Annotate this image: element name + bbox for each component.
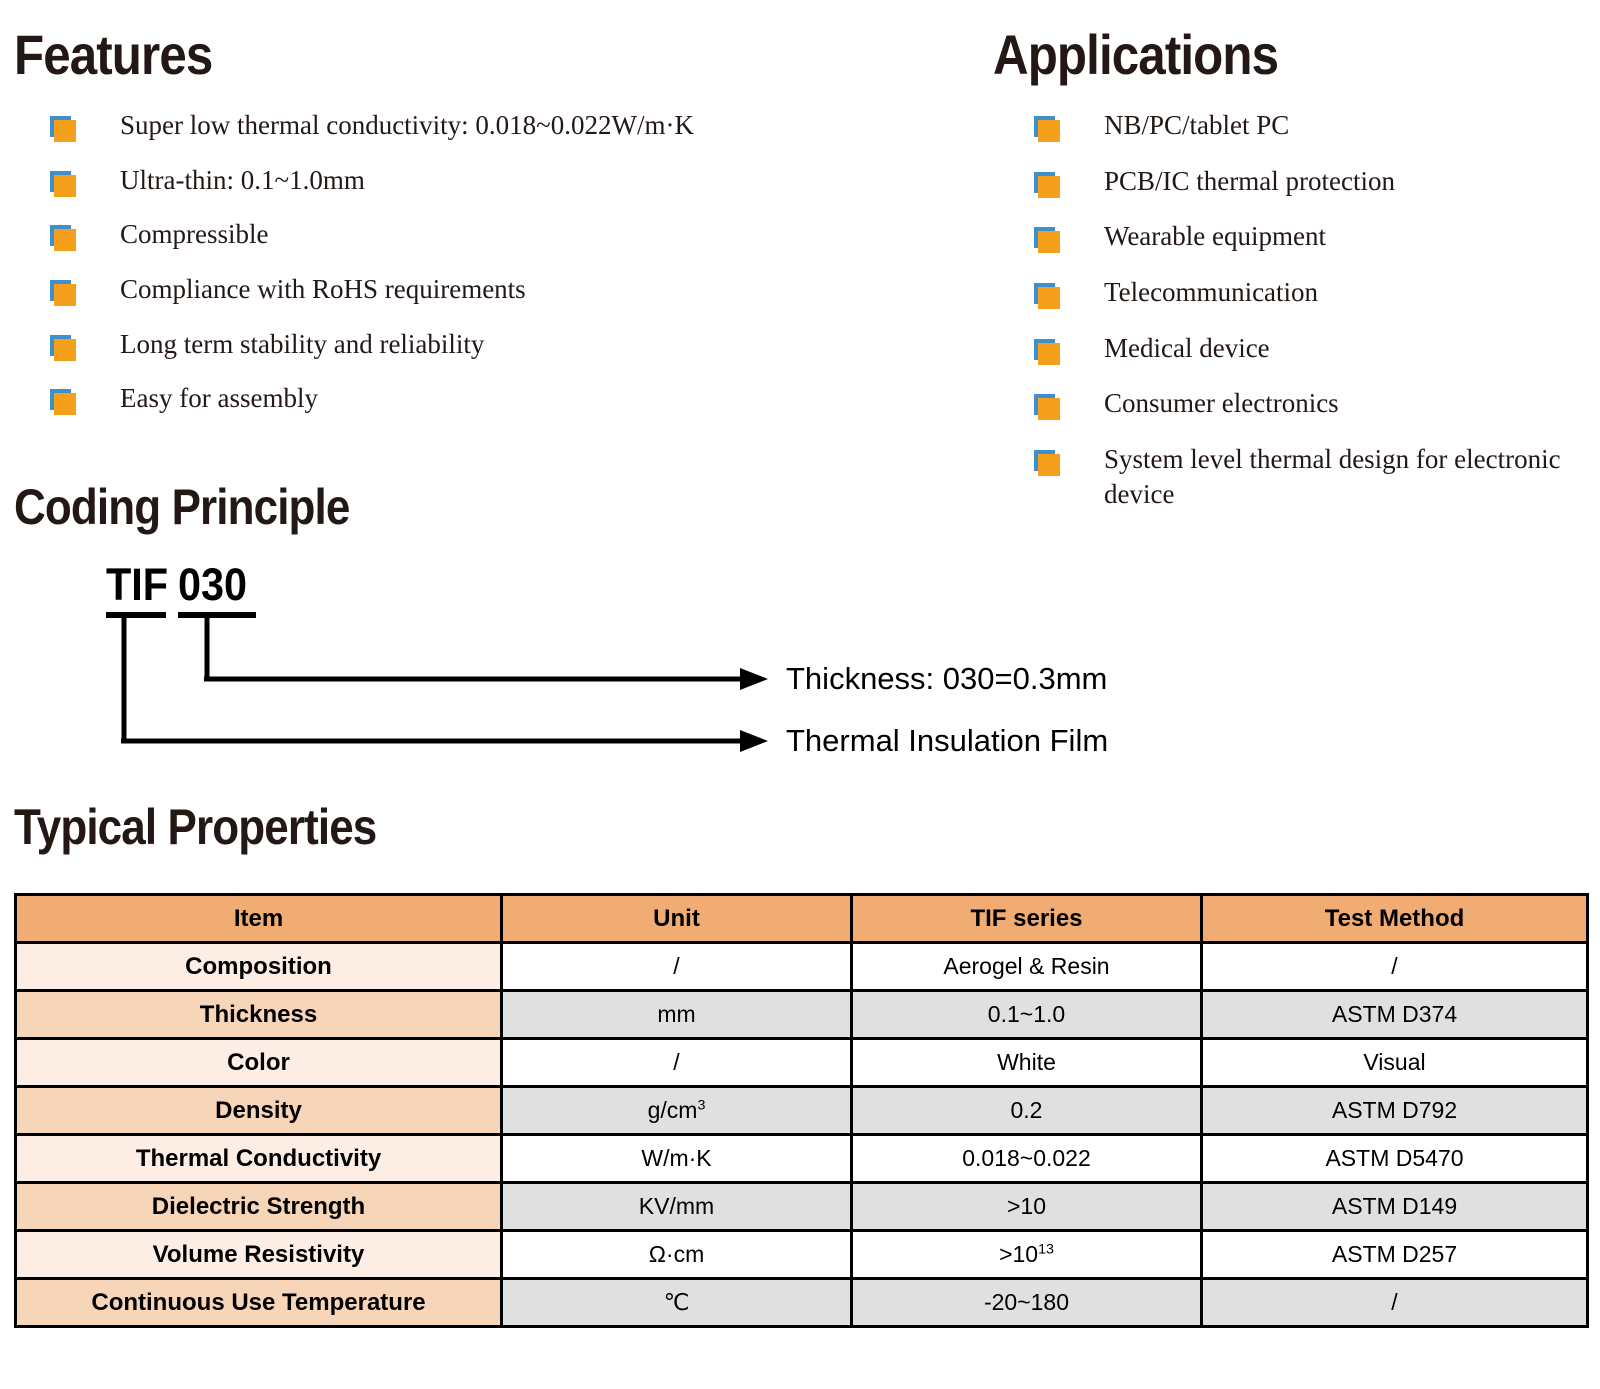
list-item: Compliance with RoHS requirements xyxy=(50,272,930,308)
list-item-label: System level thermal design for electron… xyxy=(1104,444,1561,510)
table-row: Thicknessmm0.1~1.0ASTM D374 xyxy=(16,991,1588,1039)
cell-unit: KV/mm xyxy=(502,1183,852,1231)
cell-unit: / xyxy=(502,943,852,991)
cell-method: ASTM D149 xyxy=(1202,1183,1588,1231)
cell-method: / xyxy=(1202,943,1588,991)
square-bullet-icon xyxy=(50,389,76,415)
list-item-label: Medical device xyxy=(1104,333,1270,363)
list-item-label: Ultra-thin: 0.1~1.0mm xyxy=(120,165,365,195)
typical-properties-table: Item Unit TIF series Test Method Composi… xyxy=(14,893,1589,1328)
list-item: Medical device xyxy=(1034,331,1574,367)
cell-method: ASTM D374 xyxy=(1202,991,1588,1039)
cell-item: Composition xyxy=(16,943,502,991)
table-row: Thermal ConductivityW/m·K0.018~0.022ASTM… xyxy=(16,1135,1588,1183)
coding-principle-heading: Coding Principle xyxy=(14,478,350,536)
cell-unit: g/cm3 xyxy=(502,1087,852,1135)
list-item-label: Compliance with RoHS requirements xyxy=(120,274,526,304)
table-row: Composition/Aerogel & Resin/ xyxy=(16,943,1588,991)
square-bullet-icon xyxy=(1034,394,1060,420)
table-row: Dielectric StrengthKV/mm>10ASTM D149 xyxy=(16,1183,1588,1231)
cell-unit: mm xyxy=(502,991,852,1039)
list-item: System level thermal design for electron… xyxy=(1034,442,1574,513)
table-row: Color/WhiteVisual xyxy=(16,1039,1588,1087)
square-bullet-icon xyxy=(50,225,76,251)
coding-principle-diagram: TIF 030 Thickness: 030=0.3mm Thermal Ins… xyxy=(0,545,1300,785)
cell-method: ASTM D257 xyxy=(1202,1231,1588,1279)
list-item: Telecommunication xyxy=(1034,275,1574,311)
cell-series: Aerogel & Resin xyxy=(852,943,1202,991)
list-item: Consumer electronics xyxy=(1034,386,1574,422)
typical-properties-heading: Typical Properties xyxy=(14,798,376,856)
square-bullet-icon xyxy=(50,116,76,142)
square-bullet-icon xyxy=(1034,283,1060,309)
cell-item: Thickness xyxy=(16,991,502,1039)
list-item: Long term stability and reliability xyxy=(50,327,930,363)
square-bullet-icon xyxy=(50,280,76,306)
square-bullet-icon xyxy=(1034,339,1060,365)
applications-heading: Applications xyxy=(993,22,1278,87)
square-bullet-icon xyxy=(1034,227,1060,253)
cell-item: Volume Resistivity xyxy=(16,1231,502,1279)
cell-method: Visual xyxy=(1202,1039,1588,1087)
cell-unit: / xyxy=(502,1039,852,1087)
list-item-label: PCB/IC thermal protection xyxy=(1104,166,1395,196)
table-header-row: Item Unit TIF series Test Method xyxy=(16,895,1588,943)
cell-series: 0.1~1.0 xyxy=(852,991,1202,1039)
cell-unit: W/m·K xyxy=(502,1135,852,1183)
cell-method: ASTM D792 xyxy=(1202,1087,1588,1135)
cell-unit: ℃ xyxy=(502,1279,852,1327)
list-item-label: Consumer electronics xyxy=(1104,388,1339,418)
cell-item: Dielectric Strength xyxy=(16,1183,502,1231)
square-bullet-icon xyxy=(1034,450,1060,476)
list-item-label: Easy for assembly xyxy=(120,383,318,413)
column-header-series: TIF series xyxy=(852,895,1202,943)
square-bullet-icon xyxy=(1034,116,1060,142)
cell-method: ASTM D5470 xyxy=(1202,1135,1588,1183)
table-row: Continuous Use Temperature℃-20~180/ xyxy=(16,1279,1588,1327)
coding-label-thickness: Thickness: 030=0.3mm xyxy=(786,661,1107,697)
list-item-label: NB/PC/tablet PC xyxy=(1104,110,1289,140)
table-row: Densityg/cm30.2ASTM D792 xyxy=(16,1087,1588,1135)
list-item: NB/PC/tablet PC xyxy=(1034,108,1574,144)
list-item-label: Wearable equipment xyxy=(1104,221,1326,251)
cell-item: Density xyxy=(16,1087,502,1135)
cell-series: >1013 xyxy=(852,1231,1202,1279)
cell-series: 0.2 xyxy=(852,1087,1202,1135)
list-item-label: Super low thermal conductivity: 0.018~0.… xyxy=(120,110,694,140)
features-heading: Features xyxy=(14,22,212,87)
cell-series: >10 xyxy=(852,1183,1202,1231)
square-bullet-icon xyxy=(1034,172,1060,198)
list-item: Super low thermal conductivity: 0.018~0.… xyxy=(50,108,930,144)
list-item-label: Long term stability and reliability xyxy=(120,329,484,359)
cell-series: 0.018~0.022 xyxy=(852,1135,1202,1183)
cell-item: Continuous Use Temperature xyxy=(16,1279,502,1327)
list-item-label: Compressible xyxy=(120,219,269,249)
list-item-label: Telecommunication xyxy=(1104,277,1318,307)
column-header-unit: Unit xyxy=(502,895,852,943)
coding-label-product: Thermal Insulation Film xyxy=(786,723,1108,759)
list-item: Compressible xyxy=(50,217,930,253)
cell-unit: Ω·cm xyxy=(502,1231,852,1279)
list-item: Easy for assembly xyxy=(50,381,930,417)
list-item: Wearable equipment xyxy=(1034,219,1574,255)
column-header-item: Item xyxy=(16,895,502,943)
column-header-method: Test Method xyxy=(1202,895,1588,943)
cell-item: Thermal Conductivity xyxy=(16,1135,502,1183)
table-row: Volume ResistivityΩ·cm>1013ASTM D257 xyxy=(16,1231,1588,1279)
square-bullet-icon xyxy=(50,171,76,197)
cell-method: / xyxy=(1202,1279,1588,1327)
list-item: Ultra-thin: 0.1~1.0mm xyxy=(50,163,930,199)
list-item: PCB/IC thermal protection xyxy=(1034,164,1574,200)
applications-list: NB/PC/tablet PC PCB/IC thermal protectio… xyxy=(1034,108,1574,533)
cell-series: White xyxy=(852,1039,1202,1087)
features-list: Super low thermal conductivity: 0.018~0.… xyxy=(50,108,930,436)
cell-series: -20~180 xyxy=(852,1279,1202,1327)
square-bullet-icon xyxy=(50,335,76,361)
cell-item: Color xyxy=(16,1039,502,1087)
